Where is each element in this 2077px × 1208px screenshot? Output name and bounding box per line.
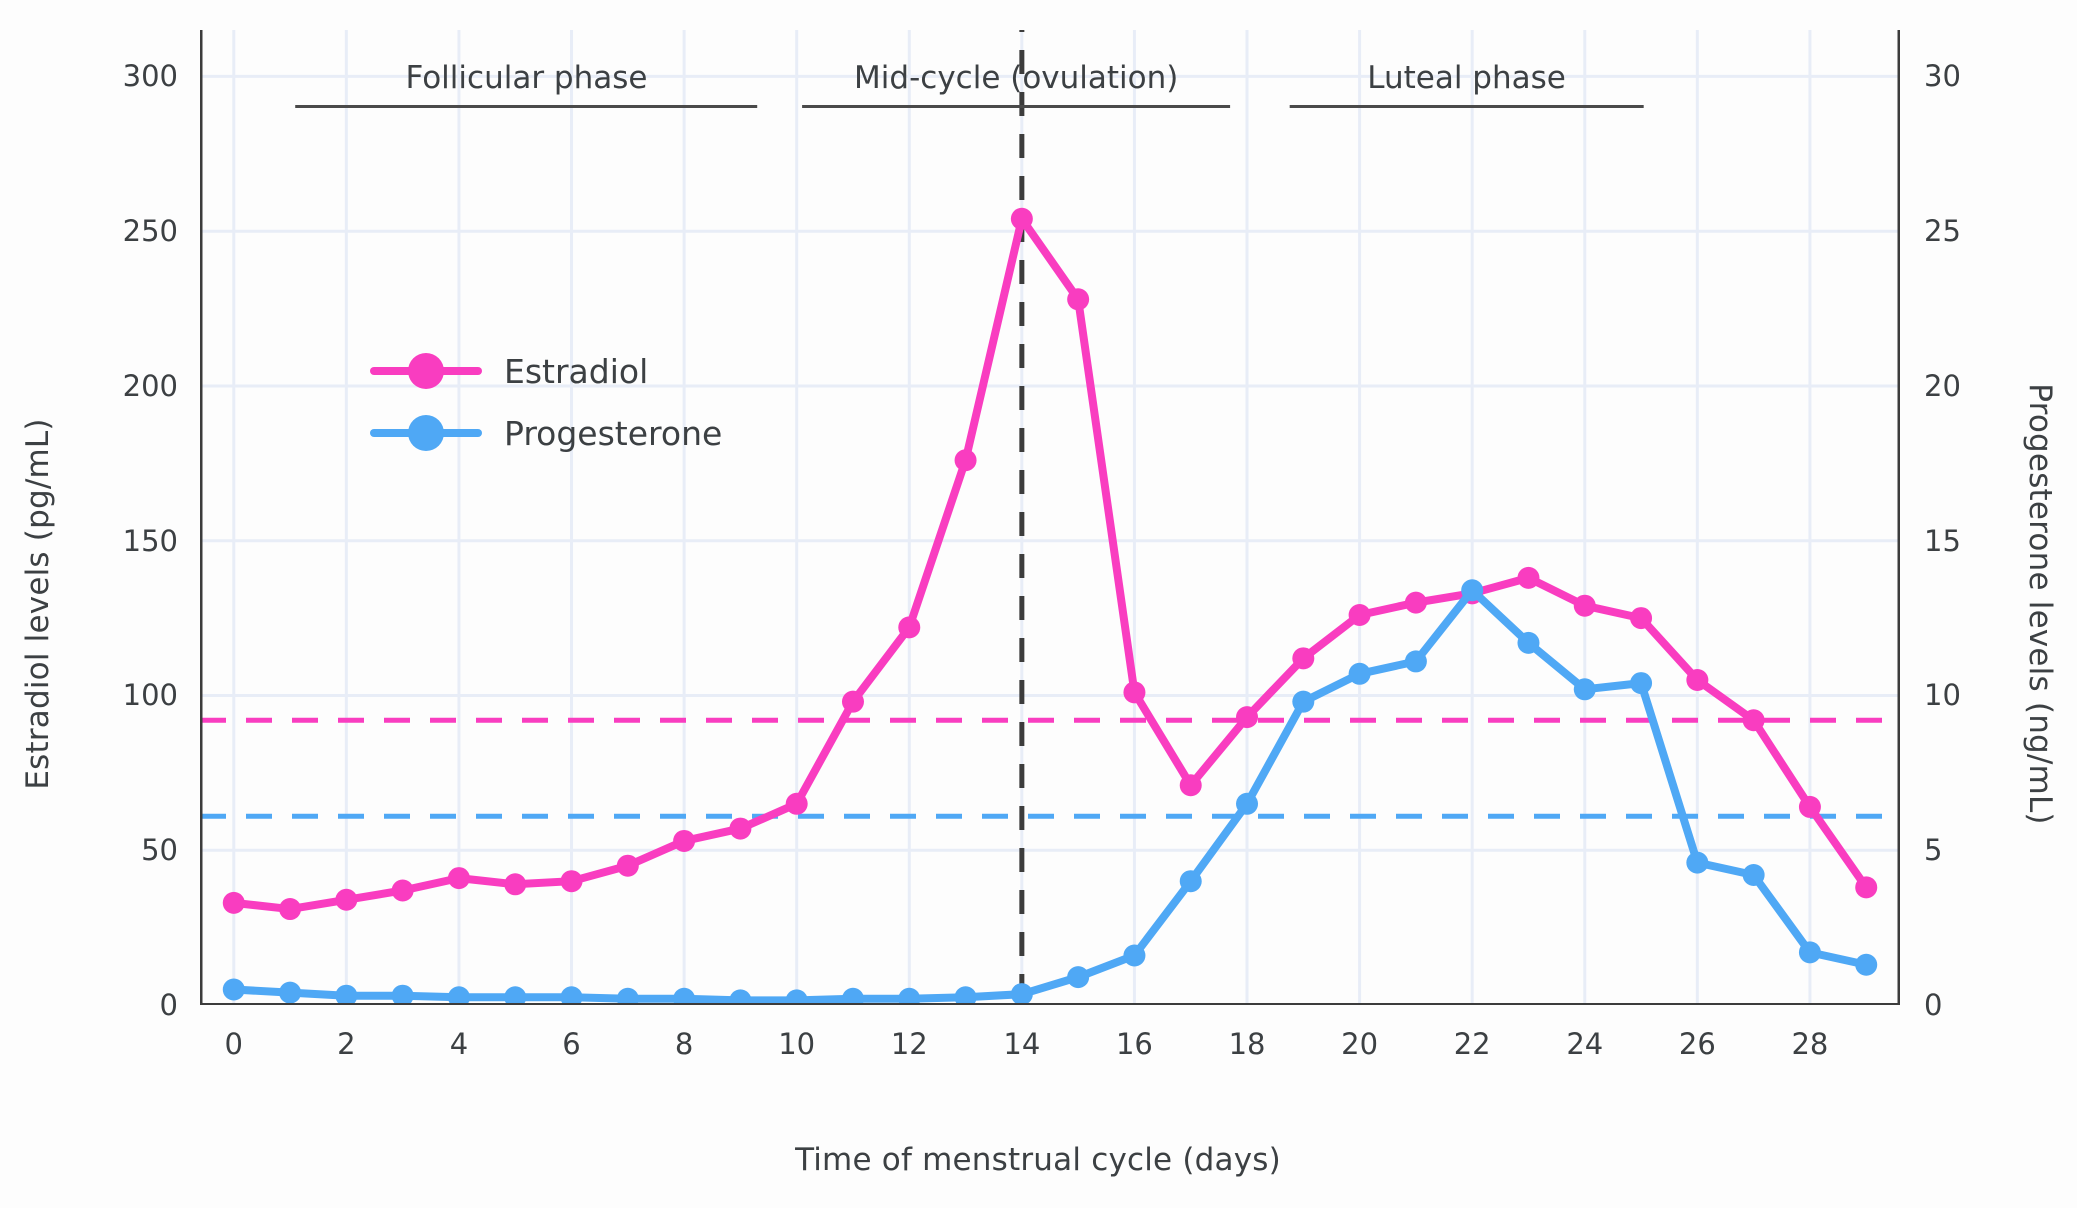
data-point[interactable] (898, 616, 920, 638)
data-point[interactable] (223, 979, 245, 1001)
data-point[interactable] (1292, 691, 1314, 713)
data-point[interactable] (1180, 870, 1202, 892)
data-point[interactable] (1743, 864, 1765, 886)
follicular-phase-annotation: Follicular phase (296, 60, 758, 108)
data-point[interactable] (673, 830, 695, 852)
data-point[interactable] (561, 986, 583, 1005)
data-point[interactable] (955, 986, 977, 1005)
data-point[interactable] (729, 989, 751, 1005)
reference-lines (200, 720, 1900, 816)
data-point[interactable] (842, 988, 864, 1005)
y-axis-right-tick-label: 0 (1924, 988, 1942, 1022)
data-point[interactable] (223, 892, 245, 914)
y-axis-right-tick-label: 20 (1924, 369, 1961, 403)
chart-legend[interactable]: EstradiolProgesterone (370, 340, 722, 464)
chart-canvas: Estradiol levels (pg/mL) Progesterone le… (0, 0, 2077, 1208)
plot-area: 0501001502002503000510152025300246810121… (200, 30, 1900, 1005)
data-point[interactable] (1686, 669, 1708, 691)
data-point[interactable] (504, 873, 526, 895)
data-point[interactable] (1236, 706, 1258, 728)
data-point[interactable] (1630, 672, 1652, 694)
axis-spines (200, 30, 1900, 1005)
gridlines (200, 30, 1900, 1005)
data-point[interactable] (842, 691, 864, 713)
data-point[interactable] (335, 985, 357, 1005)
x-axis-tick-label: 20 (1341, 1027, 1378, 1061)
x-axis-tick-label: 28 (1791, 1027, 1828, 1061)
data-point[interactable] (1517, 632, 1539, 654)
data-point[interactable] (335, 889, 357, 911)
luteal-phase-underline (1289, 105, 1644, 108)
data-point[interactable] (1011, 208, 1033, 230)
series-progesterone[interactable] (223, 579, 1877, 1005)
mid-cycle-ovulation-label: Mid-cycle (ovulation) (802, 60, 1230, 96)
legend-label: Estradiol (504, 352, 648, 391)
data-point[interactable] (1517, 567, 1539, 589)
x-axis-tick-label: 12 (891, 1027, 928, 1061)
x-axis-tick-label: 14 (1003, 1027, 1040, 1061)
data-point[interactable] (448, 986, 470, 1005)
data-point[interactable] (617, 855, 639, 877)
legend-marker-icon (408, 415, 444, 451)
data-point[interactable] (1405, 592, 1427, 614)
data-point[interactable] (1349, 663, 1371, 685)
data-point[interactable] (786, 989, 808, 1005)
x-axis-title: Time of menstrual cycle (days) (795, 1142, 1281, 1178)
data-point[interactable] (1855, 954, 1877, 976)
y-axis-left-tick-label: 0 (160, 988, 178, 1022)
data-point[interactable] (1067, 966, 1089, 988)
follicular-phase-underline (296, 105, 758, 108)
x-axis-tick-label: 6 (562, 1027, 580, 1061)
y-axis-right-tick-label: 5 (1924, 833, 1942, 867)
data-point[interactable] (1686, 852, 1708, 874)
follicular-phase-label: Follicular phase (296, 60, 758, 96)
y-axis-right-tick-label: 30 (1924, 59, 1961, 93)
y-axis-left-tick-label: 250 (123, 214, 178, 248)
data-point[interactable] (1349, 604, 1371, 626)
y-axis-right-tick-label: 10 (1924, 678, 1961, 712)
y-axis-left-tick-label: 300 (123, 59, 178, 93)
y-axis-left-tick-label: 200 (123, 369, 178, 403)
data-point[interactable] (1405, 650, 1427, 672)
data-point[interactable] (1067, 288, 1089, 310)
data-point[interactable] (1123, 944, 1145, 966)
y-axis-right-title: Progesterone levels (ng/mL) (2022, 194, 2058, 1014)
x-axis-tick-label: 22 (1454, 1027, 1491, 1061)
data-point[interactable] (617, 988, 639, 1005)
data-point[interactable] (1292, 647, 1314, 669)
data-series-group[interactable] (223, 208, 1877, 1005)
data-point[interactable] (1123, 681, 1145, 703)
mid-cycle-ovulation-annotation: Mid-cycle (ovulation) (802, 60, 1230, 108)
y-axis-right-tick-label: 25 (1924, 214, 1961, 248)
data-point[interactable] (279, 898, 301, 920)
legend-item-progesterone[interactable]: Progesterone (370, 402, 722, 464)
legend-label: Progesterone (504, 414, 722, 453)
data-point[interactable] (1799, 941, 1821, 963)
x-axis-tick-label: 0 (225, 1027, 243, 1061)
data-point[interactable] (392, 879, 414, 901)
x-axis-tick-label: 2 (337, 1027, 355, 1061)
data-point[interactable] (504, 986, 526, 1005)
luteal-phase-annotation: Luteal phase (1289, 60, 1644, 108)
mid-cycle-ovulation-underline (802, 105, 1230, 108)
y-axis-left-tick-label: 50 (141, 833, 178, 867)
data-point[interactable] (673, 988, 695, 1005)
data-point[interactable] (1799, 796, 1821, 818)
data-point[interactable] (1630, 607, 1652, 629)
data-point[interactable] (392, 985, 414, 1005)
y-axis-left-tick-label: 150 (123, 524, 178, 558)
x-axis-tick-label: 18 (1229, 1027, 1266, 1061)
data-point[interactable] (1855, 876, 1877, 898)
y-axis-left-title: Estradiol levels (pg/mL) (20, 194, 56, 1014)
y-axis-left-tick-label: 100 (123, 678, 178, 712)
legend-item-estradiol[interactable]: Estradiol (370, 340, 722, 402)
data-point[interactable] (955, 449, 977, 471)
x-axis-tick-label: 24 (1566, 1027, 1603, 1061)
data-point[interactable] (1574, 678, 1596, 700)
data-point[interactable] (279, 982, 301, 1004)
data-point[interactable] (898, 988, 920, 1005)
data-point[interactable] (1743, 709, 1765, 731)
data-point[interactable] (561, 870, 583, 892)
y-axis-right-tick-label: 15 (1924, 524, 1961, 558)
data-point[interactable] (786, 793, 808, 815)
data-point[interactable] (1011, 983, 1033, 1005)
data-point[interactable] (729, 818, 751, 840)
x-axis-tick-label: 16 (1116, 1027, 1153, 1061)
data-point[interactable] (1461, 579, 1483, 601)
data-point[interactable] (448, 867, 470, 889)
x-axis-tick-label: 8 (675, 1027, 693, 1061)
series-estradiol[interactable] (223, 208, 1877, 920)
data-point[interactable] (1574, 595, 1596, 617)
x-axis-tick-label: 10 (778, 1027, 815, 1061)
legend-marker-icon (408, 353, 444, 389)
luteal-phase-label: Luteal phase (1289, 60, 1644, 96)
data-point[interactable] (1236, 793, 1258, 815)
plot-svg (200, 30, 1900, 1005)
data-point[interactable] (1180, 774, 1202, 796)
x-axis-tick-label: 4 (450, 1027, 468, 1061)
x-axis-tick-label: 26 (1679, 1027, 1716, 1061)
